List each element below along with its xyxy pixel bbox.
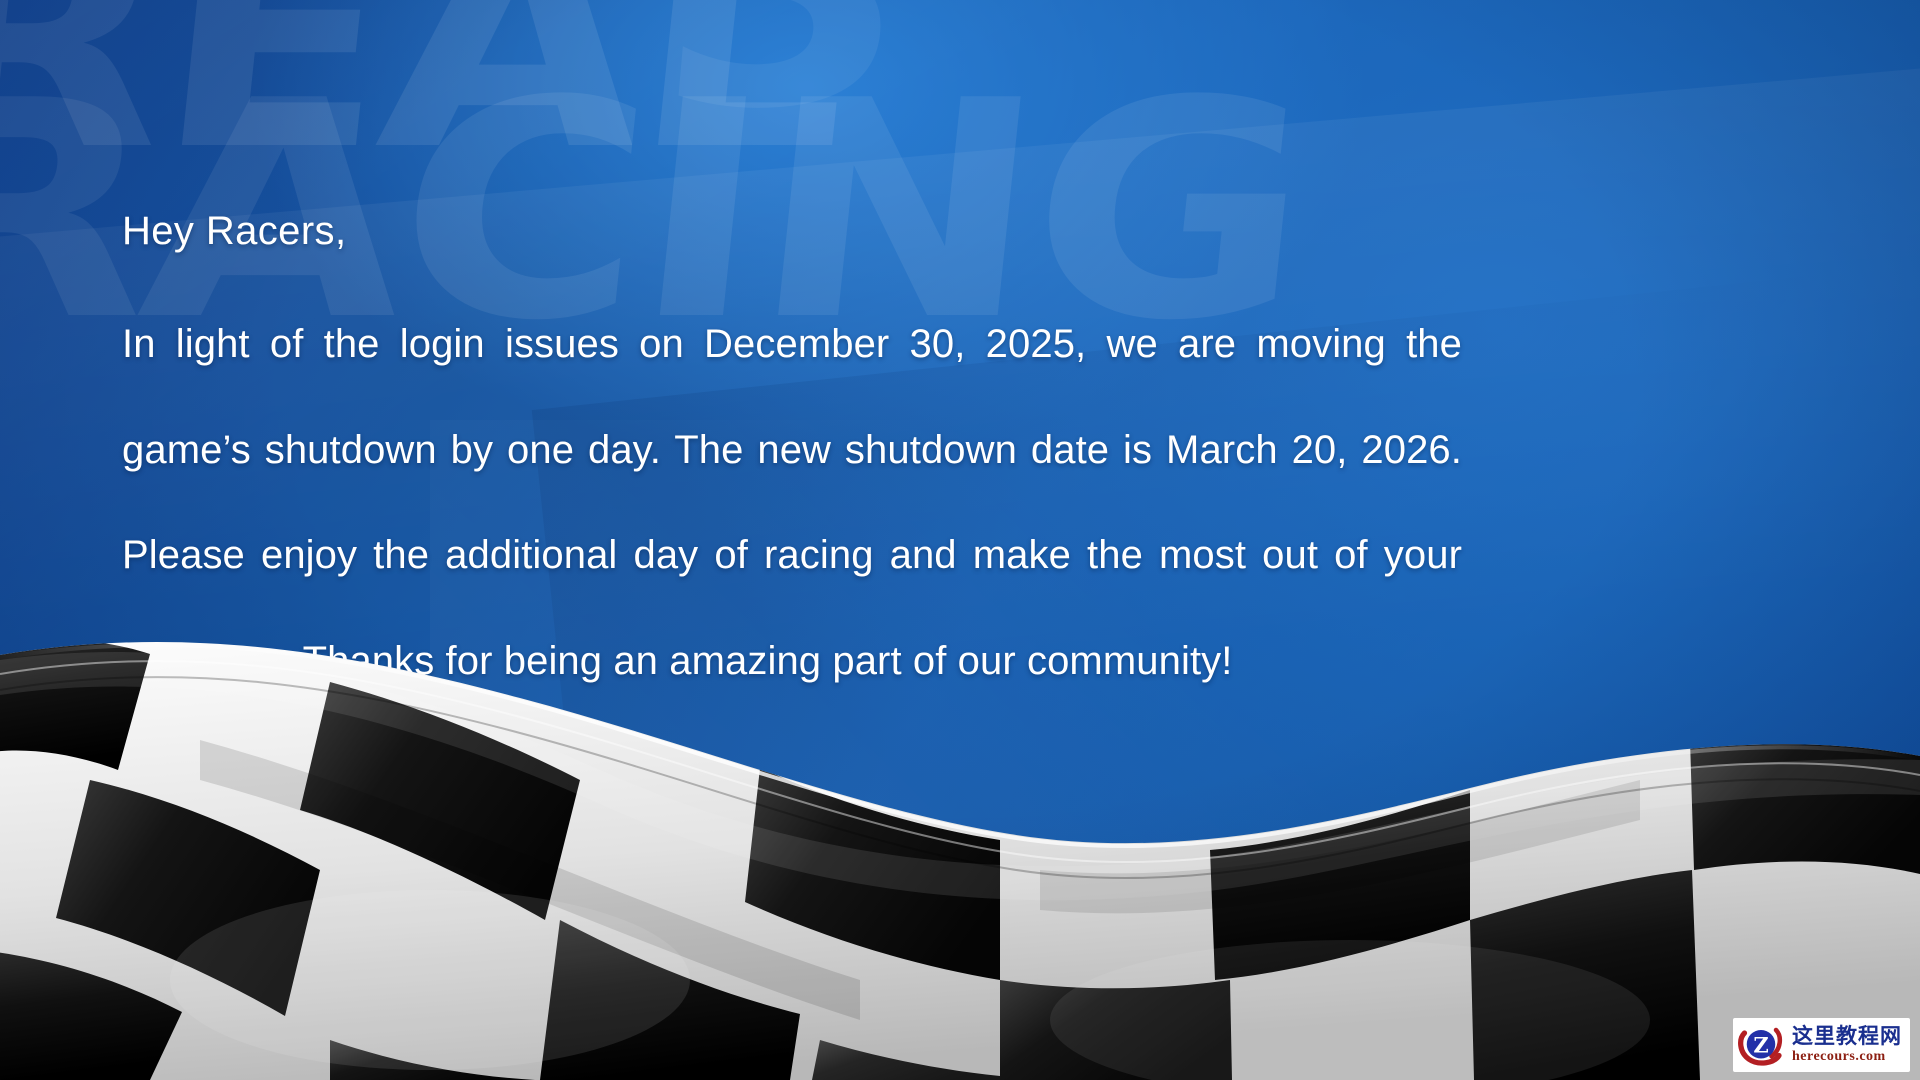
body-line-3: Please enjoy the additional day of racin… xyxy=(122,529,1462,635)
watermark-logo-icon: Z xyxy=(1737,1022,1785,1068)
watermark-site-name: 这里教程网 xyxy=(1792,1026,1902,1047)
watermark-site-url: herecours.com xyxy=(1792,1050,1902,1064)
body-line-1: In light of the login issues on December… xyxy=(122,318,1462,424)
announcement-copy: Hey Racers, In light of the login issues… xyxy=(122,206,1462,688)
background-wordmark-three: 3 xyxy=(652,0,918,122)
announcement-body: In light of the login issues on December… xyxy=(122,318,1462,688)
body-line-2: game’s shutdown by one day. The new shut… xyxy=(122,424,1462,530)
background-wordmark-real: REAL xyxy=(0,0,858,162)
svg-text:Z: Z xyxy=(1753,1033,1768,1058)
body-line-4: final laps. Thanks for being an amazing … xyxy=(122,635,1462,688)
announcement-slide: REAL RACING 3 Hey Racers, In light of th… xyxy=(0,0,1920,1080)
watermark: Z 这里教程网 herecours.com xyxy=(1733,1018,1910,1072)
greeting-line: Hey Racers, xyxy=(122,206,1462,256)
checkered-flag-image xyxy=(0,620,1920,1080)
watermark-text: 这里教程网 herecours.com xyxy=(1792,1026,1902,1064)
